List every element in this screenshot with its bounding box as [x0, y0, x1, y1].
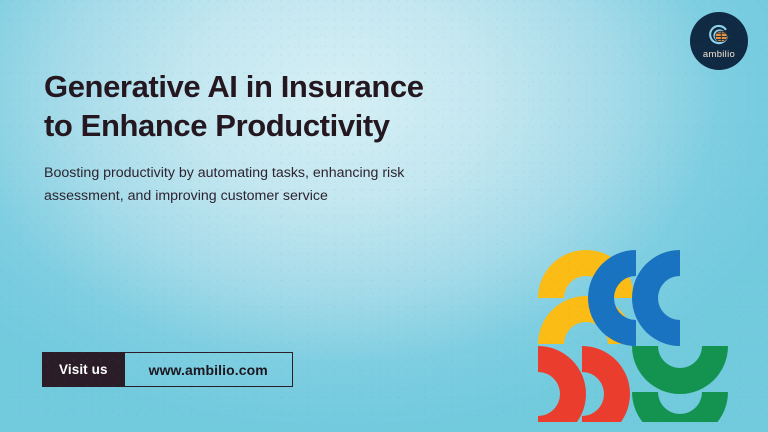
spiral-globe-icon	[704, 23, 734, 49]
logo-wordmark: ambilio	[703, 50, 735, 60]
quadrant-bottom-right-green	[632, 346, 728, 422]
page-subtitle: Boosting productivity by automating task…	[44, 162, 524, 208]
decorative-arc-pattern	[538, 250, 728, 422]
ambilio-logo[interactable]: ambilio	[690, 12, 748, 70]
headline-line-2: to Enhance Productivity	[44, 106, 564, 145]
subhead-line-1: Boosting productivity by automating task…	[44, 165, 404, 181]
subhead-line-2: assessment, and improving customer servi…	[44, 185, 524, 208]
visit-us-label: Visit us	[42, 352, 125, 387]
website-url-link[interactable]: www.ambilio.com	[125, 352, 293, 387]
banner-canvas: ambilio Generative AI in Insurance to En…	[0, 0, 768, 432]
quadrant-bottom-left-red	[538, 346, 630, 422]
visit-us-cta[interactable]: Visit us www.ambilio.com	[42, 352, 293, 387]
headline-line-1: Generative AI in Insurance	[44, 69, 424, 104]
arc-pattern-svg	[538, 250, 728, 422]
page-title: Generative AI in Insurance to Enhance Pr…	[44, 67, 564, 146]
quadrant-top-right-blue	[588, 250, 680, 346]
